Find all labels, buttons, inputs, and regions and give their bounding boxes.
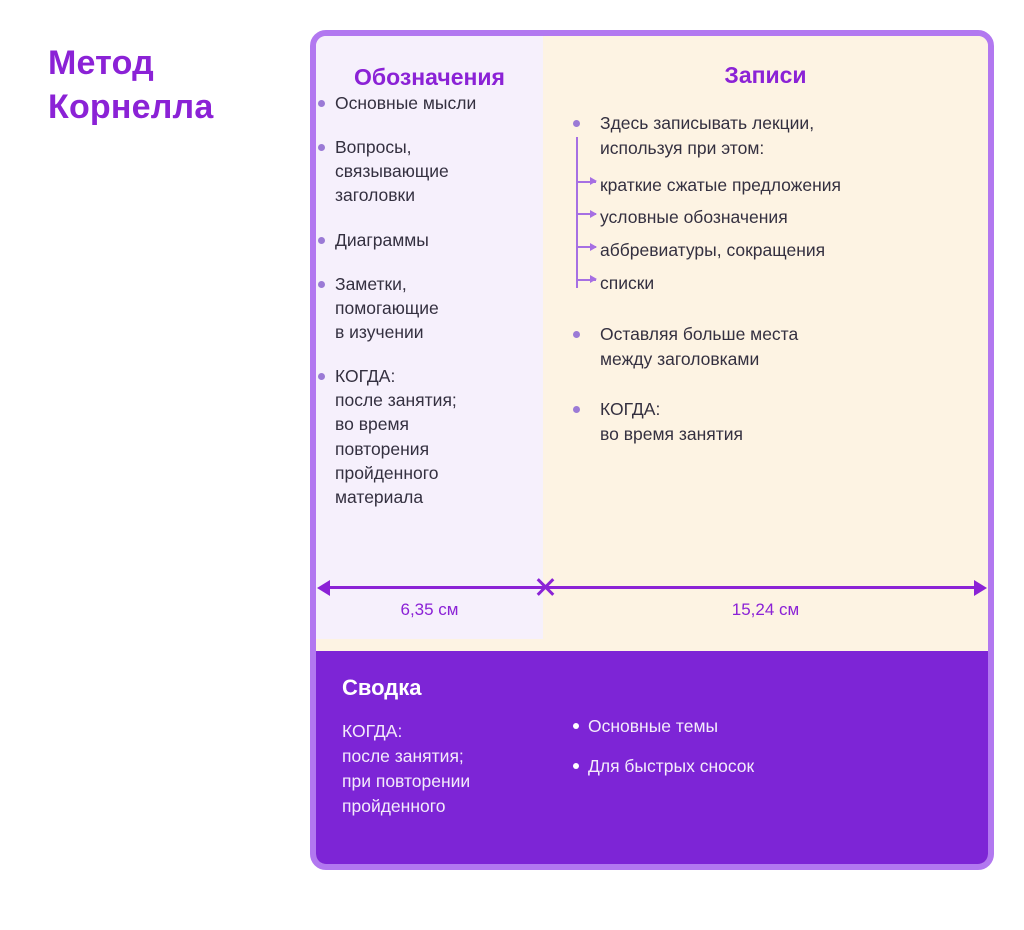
notes-branch-group: краткие сжатые предложения условные обоз… [576, 169, 968, 300]
branch-item: условные обозначения [600, 201, 968, 234]
list-item: Основные мысли [316, 91, 543, 115]
cue-item-line: материала [335, 485, 543, 509]
cue-item-main: Диаграммы [335, 230, 429, 250]
arrow-right-icon [576, 279, 596, 281]
summary-band: Сводка КОГДА: после занятия; при повторе… [316, 651, 988, 864]
page-title-line-1: Метод [48, 42, 298, 86]
list-item: Вопросы, связывающие заголовки [316, 135, 543, 207]
branch-item-label: условные обозначения [600, 207, 788, 227]
notes-intro-line: используя при этом: [600, 136, 968, 161]
notes-intro-main: Здесь записывать лекции, [600, 113, 814, 133]
list-item: Основные темы [571, 715, 754, 738]
cues-list: Основные мысли Вопросы, связывающие заго… [316, 91, 543, 509]
notes-item-line: во время занятия [600, 422, 968, 447]
cue-item-line: во время [335, 412, 543, 436]
arrow-right-icon [576, 213, 596, 215]
summary-list: Основные темы Для быстрых сносок [571, 715, 754, 795]
summary-when-main: КОГДА: [342, 721, 402, 741]
notes-column: Записи Здесь записывать лекции, использу… [543, 36, 988, 639]
notes-item: Оставляя больше места между заголовками [569, 322, 968, 372]
arrow-right-icon [576, 246, 596, 248]
cue-item-line: после занятия; [335, 388, 543, 412]
top-region: Обозначения Основные мысли Вопросы, связ… [316, 36, 988, 639]
notes-item-main: Оставляя больше места [600, 324, 798, 344]
arrow-right-icon [576, 181, 596, 183]
branch-item: списки [600, 267, 968, 300]
list-item: Заметки, помогающие в изучении [316, 272, 543, 344]
cue-item-main: КОГДА: [335, 366, 395, 386]
notes-intro-item: Здесь записывать лекции, используя при э… [569, 111, 968, 161]
list-item: Для быстрых сносок [571, 755, 754, 778]
list-item: Диаграммы [316, 228, 543, 252]
notes-body: Здесь записывать лекции, используя при э… [569, 111, 968, 447]
notes-item-main: КОГДА: [600, 399, 660, 419]
branch-item: аббревиатуры, сокращения [600, 234, 968, 267]
cue-item-main: Заметки, [335, 274, 407, 294]
notes-item: КОГДА: во время занятия [569, 397, 968, 447]
branch-item-label: списки [600, 273, 654, 293]
summary-header: Сводка [342, 675, 421, 701]
summary-when-line: при повторении [342, 769, 470, 794]
cue-item-line: помогающие [335, 296, 543, 320]
summary-when-block: КОГДА: после занятия; при повторении про… [342, 719, 470, 818]
branch-trunk-line [576, 137, 578, 288]
cues-column: Обозначения Основные мысли Вопросы, связ… [316, 36, 543, 639]
cue-item-line: пройденного [335, 461, 543, 485]
page-title-line-2: Корнелла [48, 86, 298, 130]
page-title: Метод Корнелла [48, 42, 298, 129]
branch-item-label: краткие сжатые предложения [600, 175, 841, 195]
cue-item-line: в изучении [335, 320, 543, 344]
summary-when-line: после занятия; [342, 744, 470, 769]
cornell-method-card: Обозначения Основные мысли Вопросы, связ… [310, 30, 994, 870]
cues-column-header: Обозначения [316, 64, 543, 91]
cue-item-main: Вопросы, [335, 137, 412, 157]
branch-item: краткие сжатые предложения [600, 169, 968, 202]
notes-item-line: между заголовками [600, 347, 968, 372]
cue-item-line: связывающие [335, 159, 543, 183]
cue-item-main: Основные мысли [335, 93, 476, 113]
summary-when-line: пройденного [342, 794, 470, 819]
cue-item-line: повторения [335, 437, 543, 461]
branch-item-label: аббревиатуры, сокращения [600, 240, 825, 260]
notes-column-header: Записи [543, 62, 988, 89]
list-item: КОГДА: после занятия; во время повторени… [316, 364, 543, 509]
cue-item-line: заголовки [335, 183, 543, 207]
